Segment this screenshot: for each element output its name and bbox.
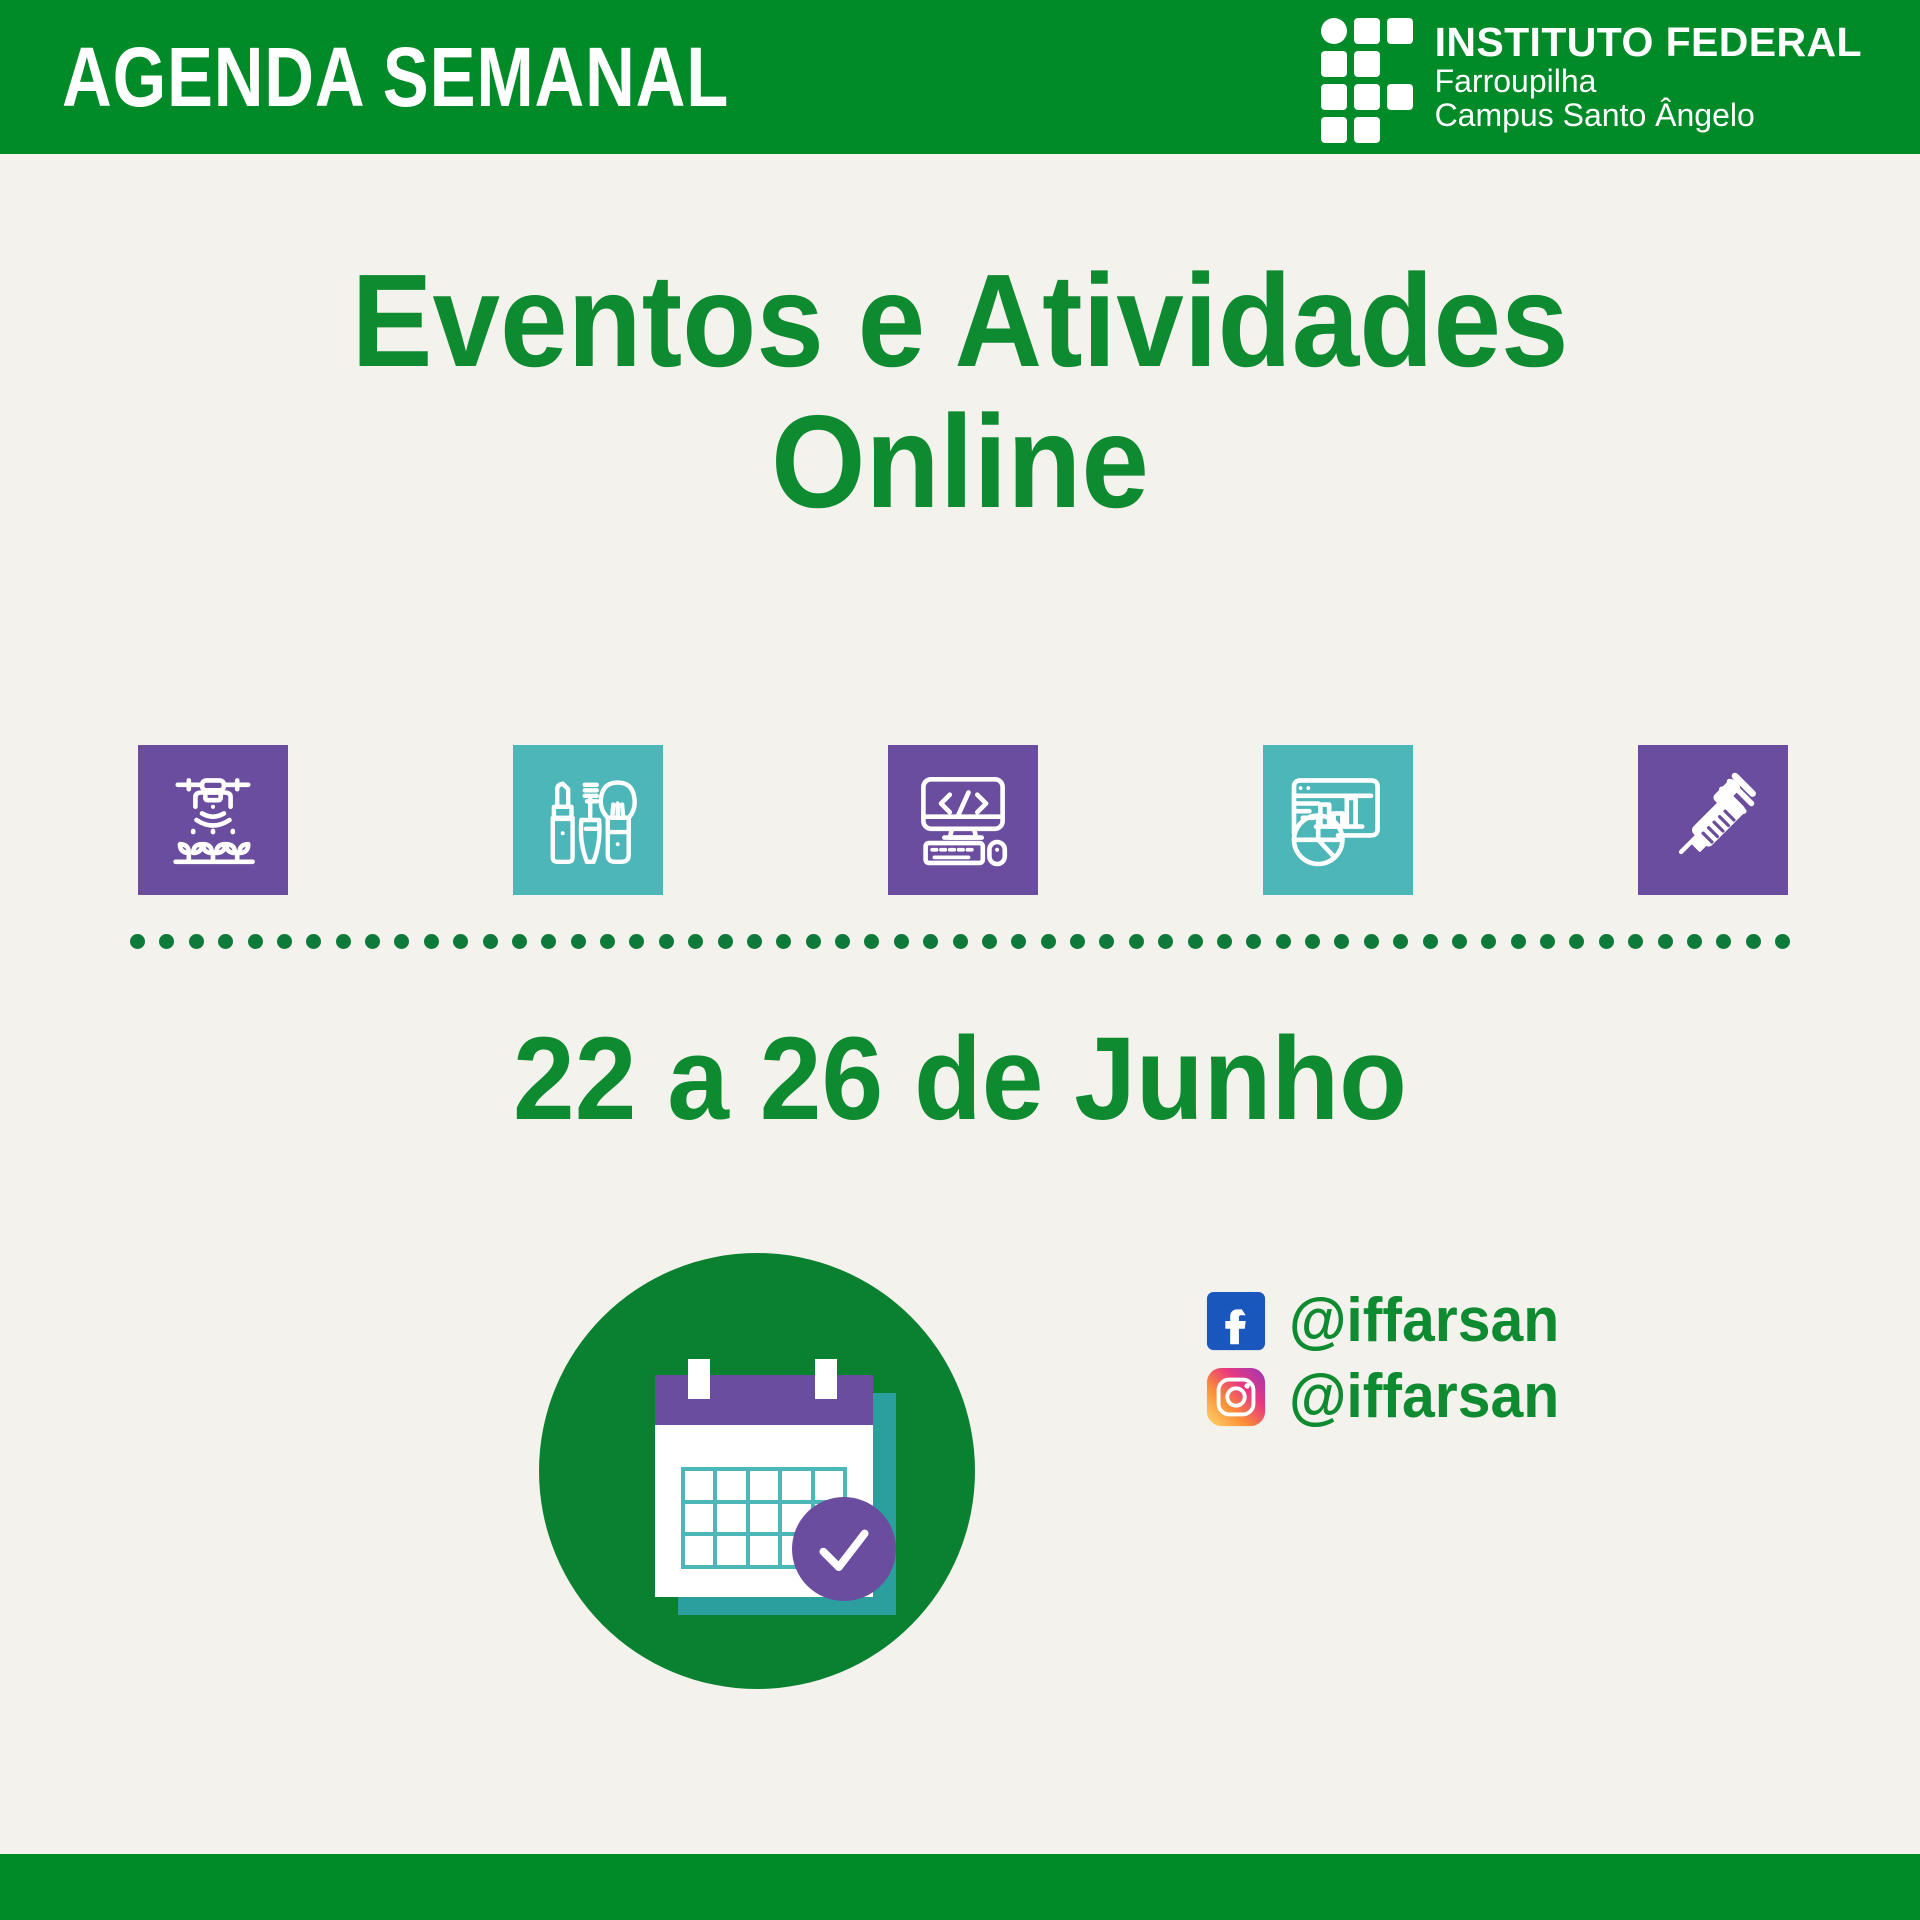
divider-dot [718, 934, 733, 949]
calendar-ring-icon [688, 1359, 710, 1399]
divider-dot [365, 934, 380, 949]
divider-dot [629, 934, 644, 949]
divider-dot [806, 934, 821, 949]
category-icon-row [138, 740, 1788, 900]
facebook-handle[interactable]: @iffarsan [1289, 1290, 1559, 1352]
agriculture-drone-icon [138, 745, 288, 895]
logo-cell [1387, 18, 1413, 44]
calendar-day-cell [782, 1471, 810, 1500]
divider-dot [130, 934, 145, 949]
calendar-day-cell [717, 1471, 745, 1500]
divider-dot [864, 934, 879, 949]
divider-dot [1158, 934, 1173, 949]
calendar-day-cell [685, 1504, 713, 1533]
page-header: AGENDA SEMANAL INSTITUTO FEDERAL Farroup… [0, 0, 1920, 154]
divider-dot [1716, 934, 1731, 949]
date-range-text: 22 a 26 de Junho [58, 1020, 1863, 1138]
divider-dot [483, 934, 498, 949]
calendar-day-cell [750, 1536, 778, 1565]
divider-dot [1540, 934, 1555, 949]
divider-dot [600, 934, 615, 949]
logo-institution-name: INSTITUTO FEDERAL [1435, 21, 1862, 64]
institution-logo: INSTITUTO FEDERAL Farroupilha Campus San… [1321, 18, 1862, 136]
instagram-handle[interactable]: @iffarsan [1289, 1366, 1559, 1428]
divider-dot [1658, 934, 1673, 949]
logo-cell-circle [1321, 18, 1347, 44]
divider-dot [1129, 934, 1144, 949]
page-footer [0, 1854, 1920, 1920]
divider-dot [982, 934, 997, 949]
divider-dot [424, 934, 439, 949]
divider-dot [1393, 934, 1408, 949]
logo-text-block: INSTITUTO FEDERAL Farroupilha Campus San… [1435, 21, 1862, 132]
divider-dot [1775, 934, 1790, 949]
logo-cell [1321, 84, 1347, 110]
check-icon [813, 1518, 875, 1580]
divider-dot [1334, 934, 1349, 949]
divider-dot [776, 934, 791, 949]
dotted-divider [130, 930, 1790, 952]
logo-cell [1387, 84, 1413, 110]
divider-dot [1687, 934, 1702, 949]
divider-dot [1188, 934, 1203, 949]
calendar-ring-icon [815, 1359, 837, 1399]
if-logo-grid-icon [1321, 18, 1413, 136]
divider-dot [1276, 934, 1291, 949]
divider-dot [1217, 934, 1232, 949]
divider-dot [394, 934, 409, 949]
social-row-facebook[interactable]: @iffarsan [1205, 1290, 1625, 1352]
instagram-icon[interactable] [1205, 1366, 1267, 1428]
logo-unit-name: Farroupilha [1435, 65, 1862, 99]
logo-campus-name: Campus Santo Ângelo [1435, 99, 1862, 133]
divider-dot [306, 934, 321, 949]
logo-cell [1354, 117, 1380, 143]
divider-dot [248, 934, 263, 949]
divider-dot [1452, 934, 1467, 949]
calendar-day-cell [750, 1471, 778, 1500]
calendar-day-cell [717, 1504, 745, 1533]
divider-dot [894, 934, 909, 949]
logo-cell [1354, 18, 1380, 44]
calendar-day-cell [815, 1471, 843, 1500]
divider-dot [1041, 934, 1056, 949]
divider-dot [835, 934, 850, 949]
divider-dot [159, 934, 174, 949]
computer-code-icon [888, 745, 1038, 895]
divider-dot [953, 934, 968, 949]
syringe-vaccine-icon [1638, 745, 1788, 895]
logo-cell [1321, 51, 1347, 77]
analytics-dashboard-icon [1263, 745, 1413, 895]
divider-dot [1599, 934, 1614, 949]
divider-dot [277, 934, 292, 949]
cosmetics-makeup-icon [513, 745, 663, 895]
divider-dot [1099, 934, 1114, 949]
calendar-day-cell [685, 1471, 713, 1500]
divider-dot [1011, 934, 1026, 949]
logo-cell-empty [1387, 117, 1413, 143]
calendar-check-badge [792, 1497, 896, 1601]
calendar-day-cell [685, 1536, 713, 1565]
page-title: AGENDA SEMANAL [62, 35, 729, 119]
divider-dot [571, 934, 586, 949]
divider-dot [1364, 934, 1379, 949]
divider-dot [1246, 934, 1261, 949]
divider-dot [541, 934, 556, 949]
divider-dot [189, 934, 204, 949]
social-links: @iffarsan @iffarsan [1205, 1290, 1625, 1442]
divider-dot [1070, 934, 1085, 949]
divider-dot [1511, 934, 1526, 949]
logo-cell-empty [1387, 51, 1413, 77]
divider-dot [1481, 934, 1496, 949]
divider-dot [1305, 934, 1320, 949]
calendar-day-cell [717, 1536, 745, 1565]
divider-dot [218, 934, 233, 949]
facebook-icon[interactable] [1205, 1290, 1267, 1352]
divider-dot [512, 934, 527, 949]
logo-cell [1354, 51, 1380, 77]
main-heading: Eventos e Atividades Online [77, 250, 1843, 532]
divider-dot [1569, 934, 1584, 949]
divider-dot [1423, 934, 1438, 949]
main-heading-line1: Eventos e Atividades [351, 247, 1568, 394]
logo-cell [1321, 117, 1347, 143]
divider-dot [747, 934, 762, 949]
social-row-instagram[interactable]: @iffarsan [1205, 1366, 1625, 1428]
divider-dot [336, 934, 351, 949]
divider-dot [688, 934, 703, 949]
divider-dot [1746, 934, 1761, 949]
divider-dot [923, 934, 938, 949]
divider-dot [1628, 934, 1643, 949]
logo-cell [1354, 84, 1380, 110]
main-heading-line2: Online [77, 391, 1843, 532]
divider-dot [659, 934, 674, 949]
calendar-day-cell [750, 1504, 778, 1533]
divider-dot [453, 934, 468, 949]
